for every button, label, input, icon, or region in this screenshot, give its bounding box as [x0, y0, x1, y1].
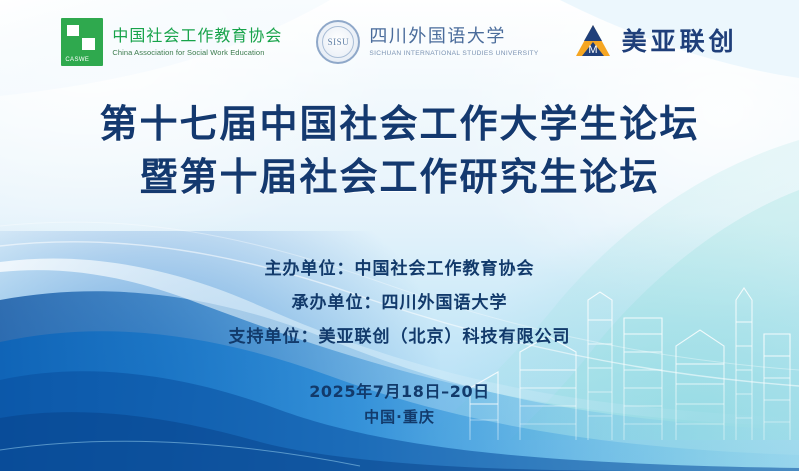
organizer-undertaker: 承办单位：四川外国语大学: [0, 286, 799, 320]
poster-title: 第十七届中国社会工作大学生论坛 暨第十届社会工作研究生论坛: [0, 98, 799, 204]
logo-sisu: SISU 四川外国语大学 SICHUAN INTERNATIONAL STUDI…: [316, 20, 538, 64]
title-line-1: 第十七届中国社会工作大学生论坛: [0, 98, 799, 151]
sisu-seal-icon: SISU: [316, 20, 360, 64]
meiya-mountain-glyph: M: [573, 22, 613, 62]
logo-meiya-lianchuang: M 美亚联创: [573, 22, 738, 62]
caswe-logo-text: 中国社会工作教育协会 China Association for Social …: [112, 26, 282, 58]
logo-casw-education: CASWE 中国社会工作教育协会 China Association for S…: [61, 18, 282, 66]
meiya-mountain-icon: M: [573, 22, 613, 62]
caswe-name-en: China Association for Social Work Educat…: [112, 47, 282, 58]
caswe-logo-mark-text: CASWE: [65, 57, 89, 63]
meiya-name-cn: 美亚联创: [622, 27, 738, 57]
caswe-logo-icon: CASWE: [61, 18, 103, 66]
organizer-supporter: 支持单位：美亚联创（北京）科技有限公司: [0, 320, 799, 354]
poster-canvas: CASWE 中国社会工作教育协会 China Association for S…: [0, 0, 799, 471]
event-datetime-place: 2025年7月18日–20日 中国·重庆: [0, 378, 799, 429]
sisu-name-en: SICHUAN INTERNATIONAL STUDIES UNIVERSITY: [369, 49, 538, 59]
svg-text:M: M: [588, 44, 597, 56]
organizer-host: 主办单位：中国社会工作教育协会: [0, 252, 799, 286]
logo-bar: CASWE 中国社会工作教育协会 China Association for S…: [0, 14, 799, 70]
sisu-logo-text: 四川外国语大学 SICHUAN INTERNATIONAL STUDIES UN…: [369, 26, 538, 59]
organizer-list: 主办单位：中国社会工作教育协会 承办单位：四川外国语大学 支持单位：美亚联创（北…: [0, 252, 799, 354]
caswe-name-cn: 中国社会工作教育协会: [112, 26, 282, 46]
sisu-seal-text: SISU: [318, 22, 358, 62]
sisu-name-cn: 四川外国语大学: [369, 26, 538, 47]
title-line-2: 暨第十届社会工作研究生论坛: [0, 151, 799, 204]
event-place: 中国·重庆: [0, 405, 799, 429]
event-date: 2025年7月18日–20日: [0, 378, 799, 405]
